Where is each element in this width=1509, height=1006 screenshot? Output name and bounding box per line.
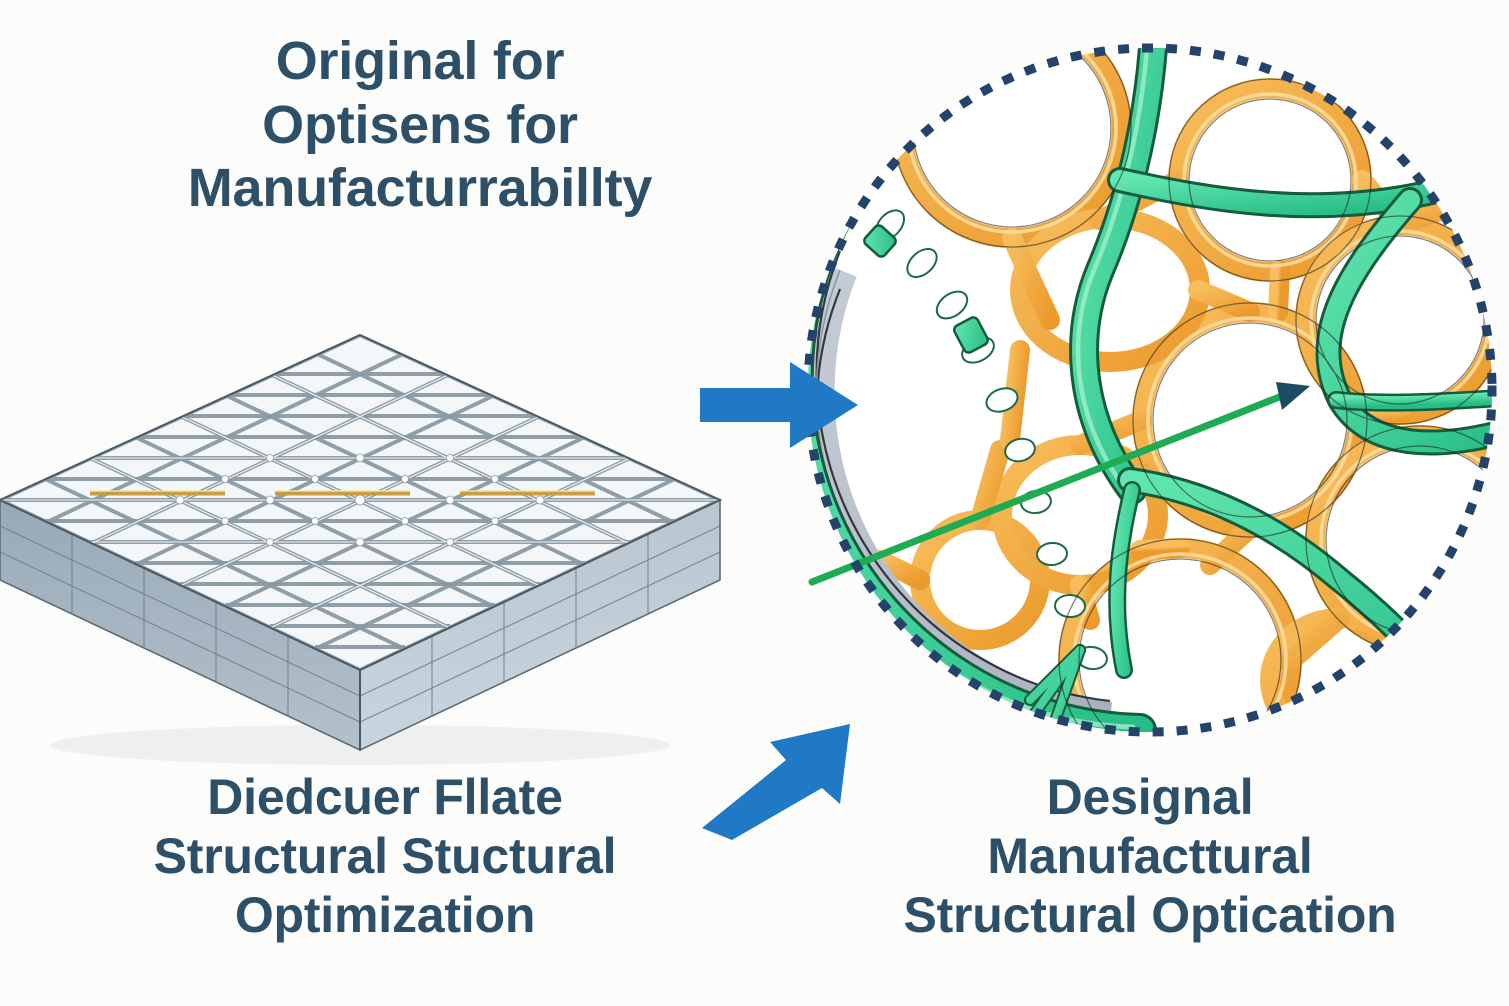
caption-left-model: Diedcuer Fllate Structural Stuctural Opt… bbox=[40, 768, 730, 945]
isometric-lattice-plate bbox=[0, 330, 730, 770]
arrow-top-right bbox=[690, 350, 870, 460]
figure-canvas: Original for Optisens for Manufacturrabi… bbox=[0, 0, 1509, 1006]
circular-detail-view bbox=[780, 20, 1509, 760]
caption-right-model: Designal Manufacttural Structural Optica… bbox=[800, 768, 1500, 945]
page-title: Original for Optisens for Manufacturrabi… bbox=[70, 30, 770, 221]
